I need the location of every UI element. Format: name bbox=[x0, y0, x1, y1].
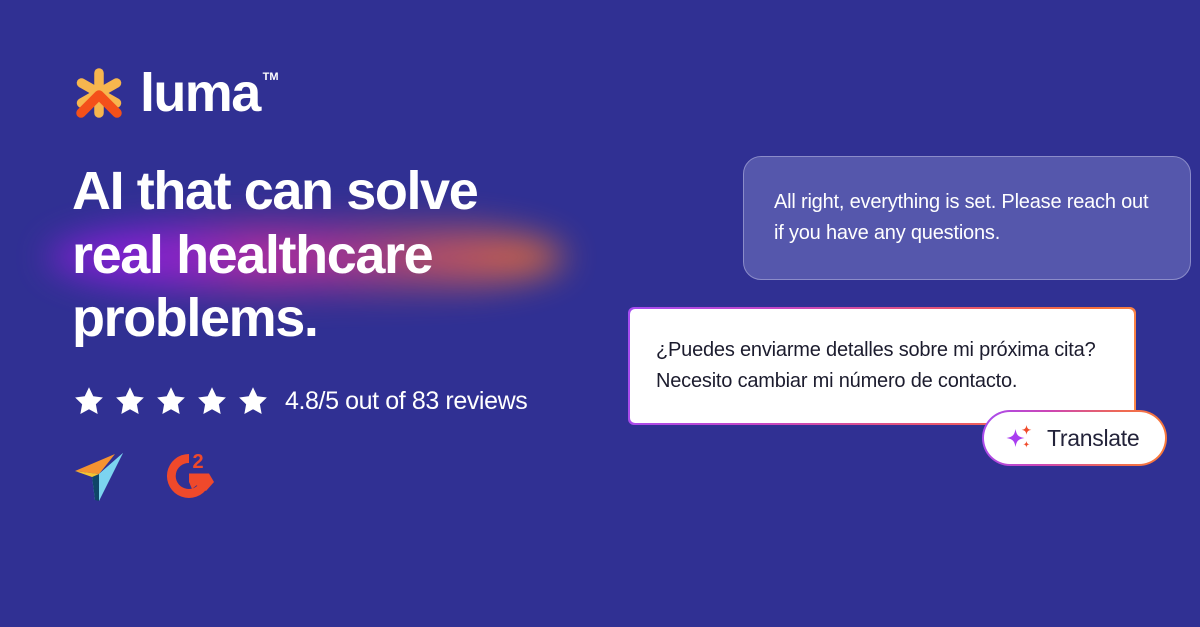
headline-line-1: AI that can solve bbox=[72, 160, 592, 224]
translate-button-label: Translate bbox=[1047, 425, 1139, 452]
star-icon bbox=[113, 385, 147, 418]
translate-button-border: Translate bbox=[982, 410, 1167, 466]
brand-logo[interactable]: luma TM bbox=[72, 64, 632, 122]
hero-left-column: luma TM AI that can solve real healthcar… bbox=[72, 64, 632, 504]
star-icon bbox=[236, 385, 270, 418]
g2-badge[interactable]: 2 bbox=[162, 449, 216, 503]
luma-asterisk-icon bbox=[72, 66, 126, 120]
klas-badge[interactable] bbox=[72, 450, 126, 502]
g2-logo-icon: 2 bbox=[162, 449, 216, 503]
star-rating bbox=[72, 385, 270, 418]
star-icon bbox=[195, 385, 229, 418]
rating-row: 4.8/5 out of 83 reviews bbox=[72, 385, 632, 418]
headline-line-2: real healthcare bbox=[72, 224, 592, 288]
page-title: AI that can solve real healthcare proble… bbox=[72, 160, 592, 351]
sparkle-icon bbox=[1004, 423, 1034, 453]
svg-text:2: 2 bbox=[192, 451, 203, 473]
rating-summary-text: 4.8/5 out of 83 reviews bbox=[285, 387, 527, 416]
hero-banner: luma TM AI that can solve real healthcar… bbox=[0, 0, 1200, 627]
brand-wordmark: luma TM bbox=[140, 66, 279, 120]
headline-line-3: problems. bbox=[72, 287, 592, 351]
trademark-mark: TM bbox=[263, 71, 279, 83]
translate-button[interactable]: Translate bbox=[984, 412, 1165, 464]
award-badges: 2 bbox=[72, 448, 632, 504]
star-icon bbox=[72, 385, 106, 418]
brand-name: luma bbox=[140, 66, 260, 120]
chat-bubble-user-border: ¿Puedes enviarme detalles sobre mi próxi… bbox=[628, 307, 1136, 425]
star-icon bbox=[154, 385, 188, 418]
chat-bubble-assistant: All right, everything is set. Please rea… bbox=[743, 156, 1191, 280]
chat-bubble-user: ¿Puedes enviarme detalles sobre mi próxi… bbox=[630, 309, 1134, 423]
paper-plane-icon bbox=[72, 450, 126, 502]
